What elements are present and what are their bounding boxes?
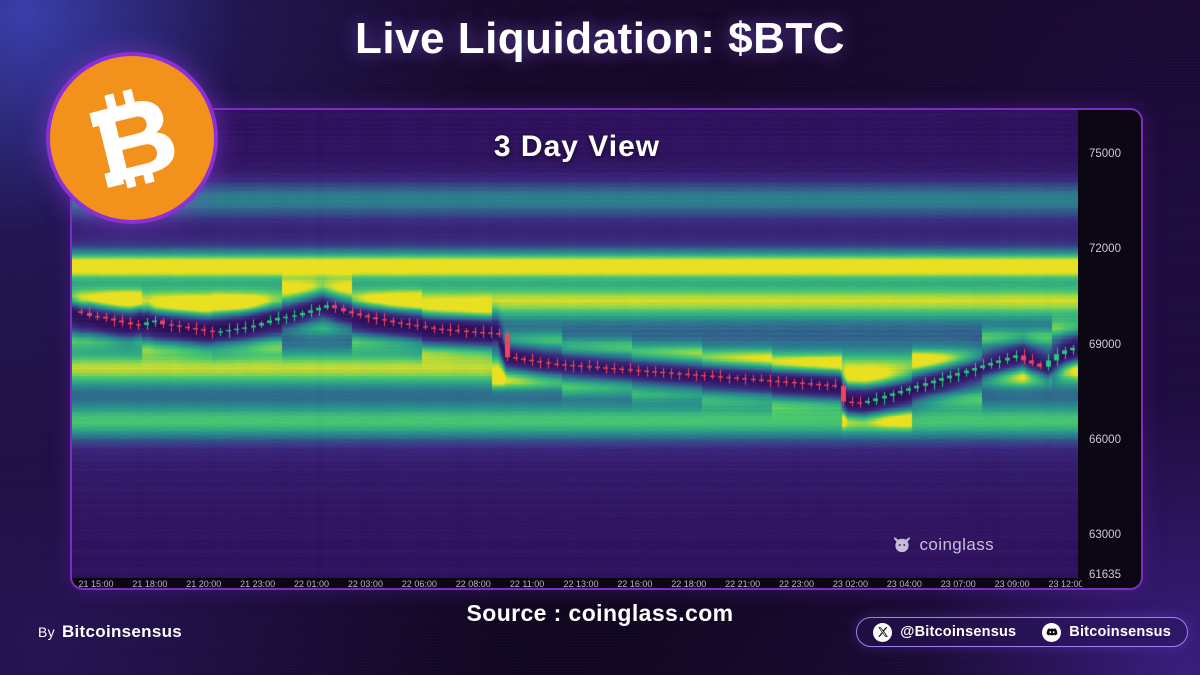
x-axis-tick: 22 08:00	[456, 579, 491, 589]
social-label-discord: Bitcoinsensus	[1069, 624, 1171, 640]
y-axis-tick: 63000	[1089, 529, 1121, 541]
x-axis-tick: 23 04:00	[887, 579, 922, 589]
social-links-pill[interactable]: @Bitcoinsensus Bitcoinsensus	[856, 617, 1188, 647]
x-axis-tick: 21 23:00	[240, 579, 275, 589]
social-link-discord[interactable]: Bitcoinsensus	[1042, 623, 1171, 642]
x-axis-tick: 22 06:00	[402, 579, 437, 589]
bull-head-icon	[891, 534, 913, 556]
discord-icon	[1042, 623, 1061, 642]
y-axis-tick: 66000	[1089, 434, 1121, 446]
x-axis-tick: 23 09:00	[995, 579, 1030, 589]
x-axis-tick: 22 23:00	[779, 579, 814, 589]
x-twitter-icon	[873, 623, 892, 642]
x-axis-tick: 22 16:00	[617, 579, 652, 589]
social-label-x: @Bitcoinsensus	[900, 624, 1016, 640]
y-axis-tick: 72000	[1089, 243, 1121, 255]
heatmap-plot-area[interactable]: 3 Day View coinglass 21 15:0021 18:0021 …	[72, 110, 1082, 590]
x-axis-tick: 21 18:00	[132, 579, 167, 589]
y-axis-tick: 69000	[1089, 339, 1121, 351]
x-axis-tick: 23 07:00	[941, 579, 976, 589]
y-axis: 750007200069000660006300061635	[1078, 110, 1141, 590]
social-link-x[interactable]: @Bitcoinsensus	[873, 623, 1016, 642]
x-axis-tick: 23 12:00	[1048, 579, 1082, 589]
byline: By Bitcoinsensus	[38, 622, 182, 642]
x-axis: 21 15:0021 18:0021 20:0021 23:0022 01:00…	[72, 578, 1082, 590]
x-axis-tick: 22 01:00	[294, 579, 329, 589]
watermark-label: coinglass	[920, 535, 994, 555]
x-axis-tick: 21 15:00	[78, 579, 113, 589]
x-axis-tick: 22 21:00	[725, 579, 760, 589]
x-axis-tick: 22 13:00	[563, 579, 598, 589]
x-axis-tick: 22 11:00	[510, 579, 544, 589]
x-axis-tick: 23 02:00	[833, 579, 868, 589]
coinglass-watermark: coinglass	[891, 534, 994, 556]
y-axis-tick: 61635	[1089, 569, 1121, 581]
bitcoin-logo-badge	[46, 52, 218, 224]
liquidation-heatmap-panel[interactable]: 3 Day View coinglass 21 15:0021 18:0021 …	[70, 108, 1143, 590]
x-axis-tick: 22 03:00	[348, 579, 383, 589]
page-title: Live Liquidation: $BTC	[0, 14, 1200, 64]
chart-subtitle: 3 Day View	[72, 130, 1082, 164]
bitcoin-icon	[80, 86, 184, 190]
y-axis-tick: 75000	[1089, 148, 1121, 160]
liquidation-heatmap-canvas[interactable]	[72, 110, 1082, 590]
byline-prefix: By	[38, 624, 55, 640]
x-axis-tick: 22 18:00	[671, 579, 706, 589]
x-axis-tick: 21 20:00	[186, 579, 221, 589]
byline-brand: Bitcoinsensus	[62, 622, 182, 642]
